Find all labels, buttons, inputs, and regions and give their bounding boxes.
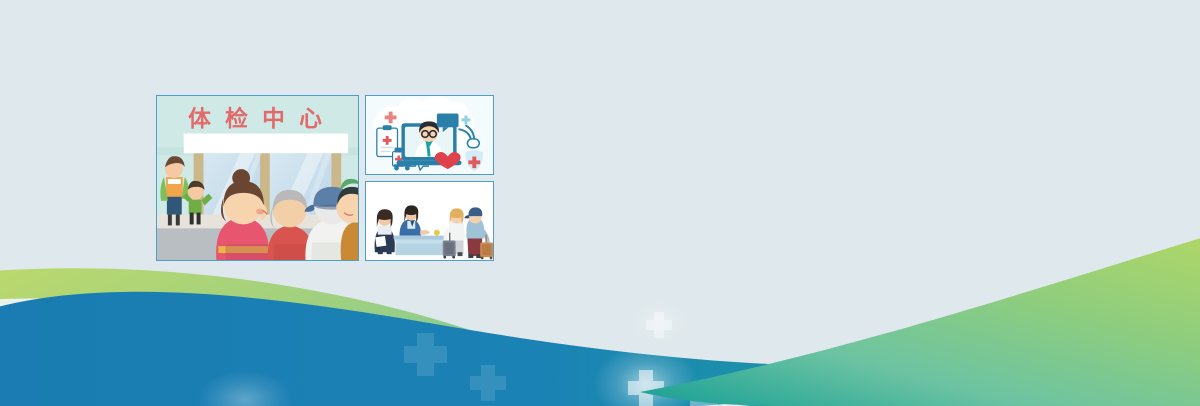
thumbnail-health-check-center[interactable]: 体 检 中 心 [156,95,359,261]
signage-text: 体 检 中 心 [188,106,326,132]
green-wave-right-shape [640,232,1200,406]
desk-bell-icon [434,230,440,236]
signage-banner [184,134,348,154]
signage-label: 体 检 中 心 [188,106,326,132]
reception-desk [394,236,447,256]
image-gallery: 体 检 中 心 [156,95,494,261]
page-root: 体 检 中 心 [0,0,1200,406]
thumbnail-telemedicine-doctor[interactable] [365,95,494,175]
person-staff-left [375,209,395,254]
thumbnail-column-right [365,95,494,261]
thumbnail-reception-desk[interactable] [365,181,494,261]
stethoscope-head [467,139,479,148]
document-icon [375,236,386,247]
